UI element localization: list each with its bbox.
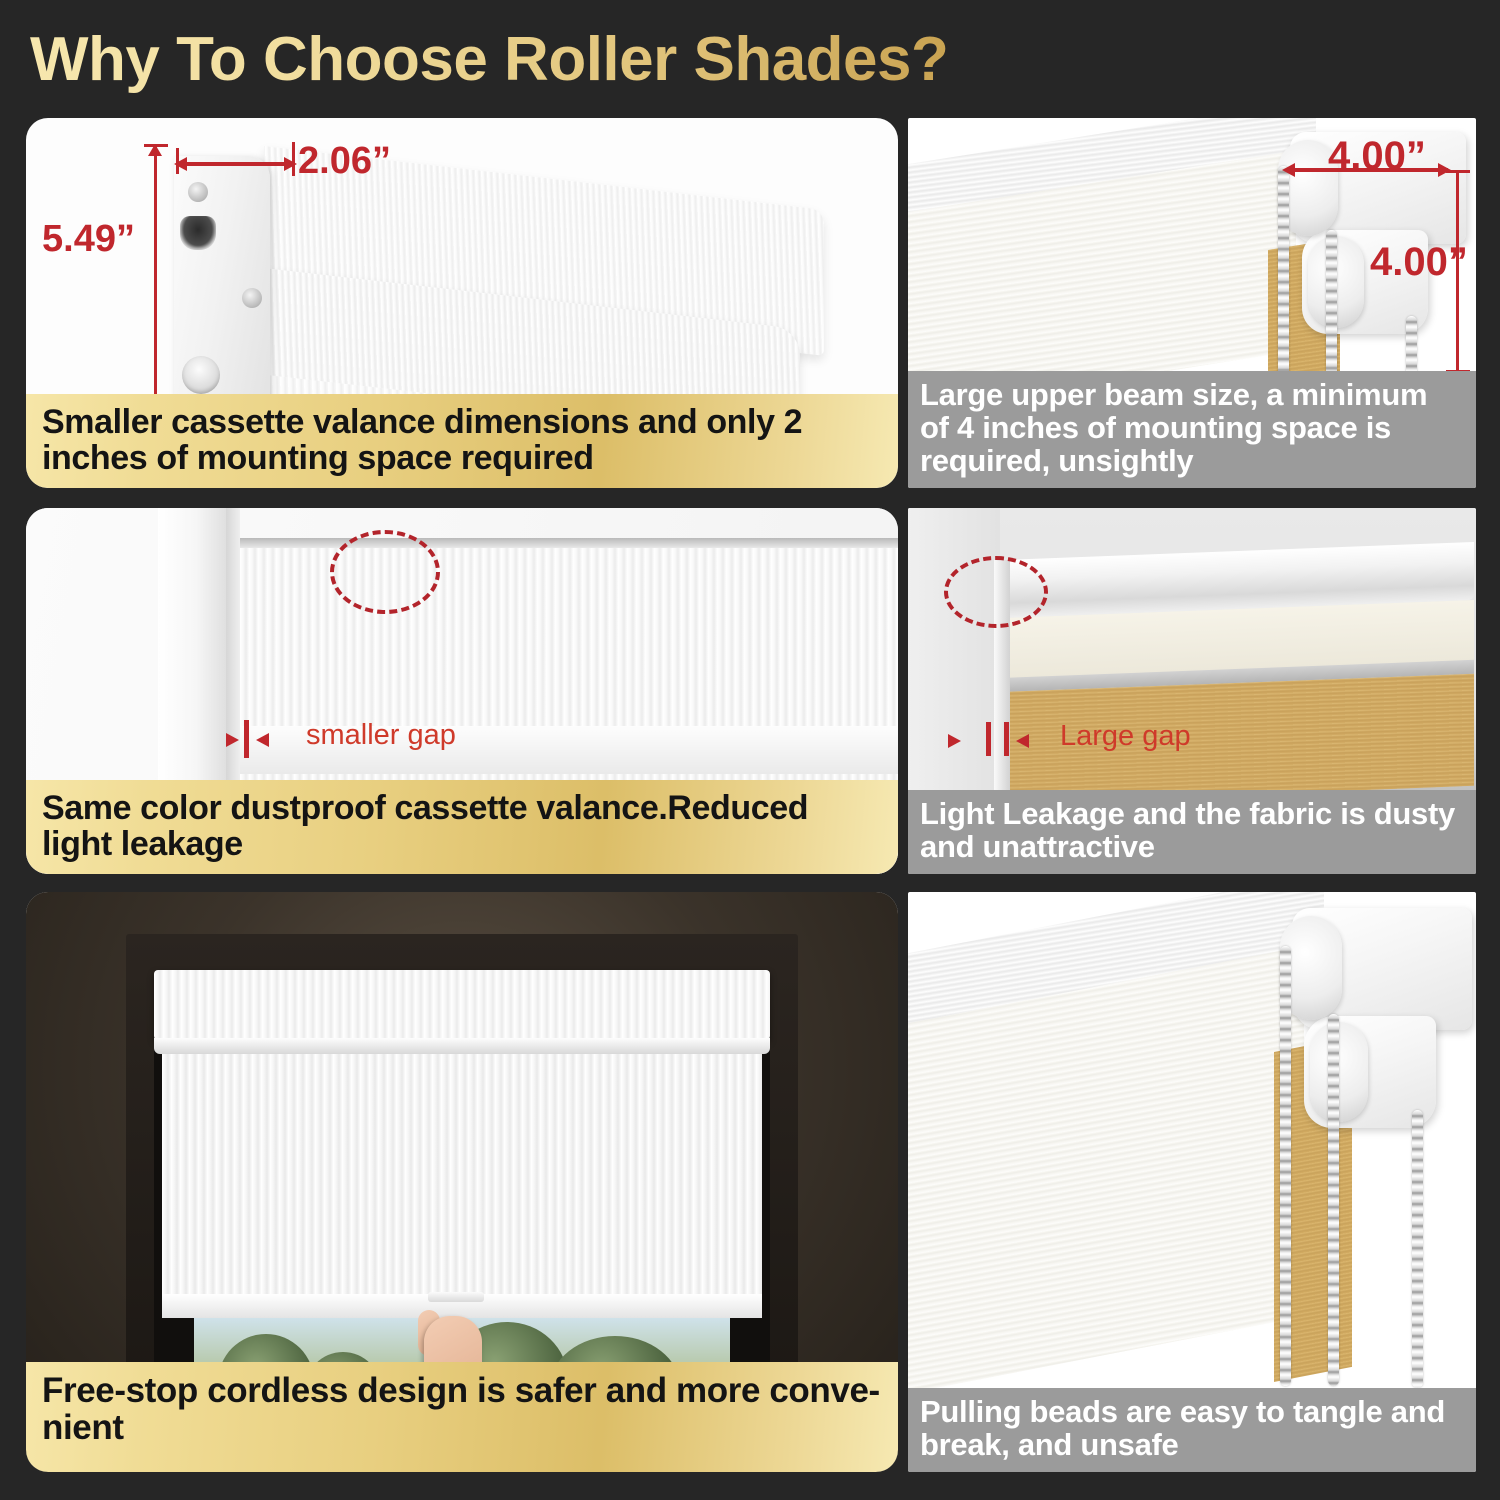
height-arrow-up-icon <box>148 144 162 156</box>
cassette-valance-lip <box>154 1038 770 1054</box>
highlight-ellipse-gap <box>330 530 440 614</box>
valance-head-rail <box>234 538 898 548</box>
white-shade-fabric <box>908 946 1304 1396</box>
panel-con-large-gap: Large gap Light Leakage and the fabric i… <box>908 508 1476 874</box>
gap-arrow-left-icon <box>1016 734 1029 748</box>
panel-pro-cordless-design: Free-stop cordless design is safer and m… <box>26 892 898 1472</box>
panel-caption-pro-smaller-gap: Same color dustproof cassette valance.Re… <box>26 780 898 874</box>
panel-caption-pro-cassette-dimensions: Smaller cassette valance dimensions and … <box>26 394 898 488</box>
panel-caption-con-large-upper-beam: Large upper beam size, a minimum of 4 in… <box>908 371 1476 488</box>
gap-label-smaller: smaller gap <box>306 719 456 752</box>
cassette-valance <box>154 970 770 1040</box>
gap-tick-line <box>244 720 249 758</box>
panel-caption-con-large-gap: Light Leakage and the fabric is dusty an… <box>908 790 1476 874</box>
page-title: Why To Choose Roller Shades? <box>30 24 1070 96</box>
gap-tick-line-a <box>986 722 991 756</box>
panel-con-pulling-beads: Pulling beads are easy to tangle and bre… <box>908 892 1476 1472</box>
gap-arrow-right-icon <box>226 733 239 747</box>
cordless-pull-handle <box>428 1292 484 1302</box>
height-dimension-line <box>154 146 157 434</box>
gap-label-large: Large gap <box>1060 720 1191 753</box>
panel-pro-cassette-dimensions: 2.06” 5.49” Smaller cassette valance dim… <box>26 118 898 488</box>
panel-caption-con-pulling-beads: Pulling beads are easy to tangle and bre… <box>908 1388 1476 1472</box>
bead-chain-left <box>1280 946 1291 1386</box>
gap-tick-line-b <box>1004 722 1009 756</box>
gap-arrow-right-icon <box>948 734 961 748</box>
height-dimension-label: 5.49” <box>42 218 135 261</box>
beam-width-arrow-right-icon <box>1438 163 1451 177</box>
width-dimension-line <box>178 162 294 166</box>
bracket-roller-disc-bottom <box>1310 1022 1368 1122</box>
end-cap-knob <box>182 356 220 394</box>
bead-chain-right <box>1412 1110 1423 1388</box>
width-arrow-left-icon <box>174 157 187 171</box>
gap-arrow-left-icon <box>256 733 269 747</box>
bead-chain-mid <box>1328 1014 1339 1386</box>
width-dimension-label: 2.06” <box>298 140 391 183</box>
panel-pro-smaller-gap: smaller gap Same color dustproof cassett… <box>26 508 898 874</box>
panel-con-large-upper-beam: 4.00” 4.00” Large upper beam size, a min… <box>908 118 1476 488</box>
shade-fabric-panel <box>162 1054 762 1300</box>
end-cap-screw-mid <box>242 288 262 308</box>
width-arrow-right-icon <box>284 157 297 171</box>
beam-height-label: 4.00” <box>1370 240 1468 285</box>
beam-width-label: 4.00” <box>1328 134 1426 179</box>
panel-caption-pro-cordless-design: Free-stop cordless design is safer and m… <box>26 1362 898 1472</box>
beam-width-arrow-left-icon <box>1282 163 1295 177</box>
highlight-ellipse-gap <box>944 556 1048 628</box>
product-photo-beaded-roller-chains <box>908 892 1476 1472</box>
end-cap-screw-top <box>188 182 208 202</box>
